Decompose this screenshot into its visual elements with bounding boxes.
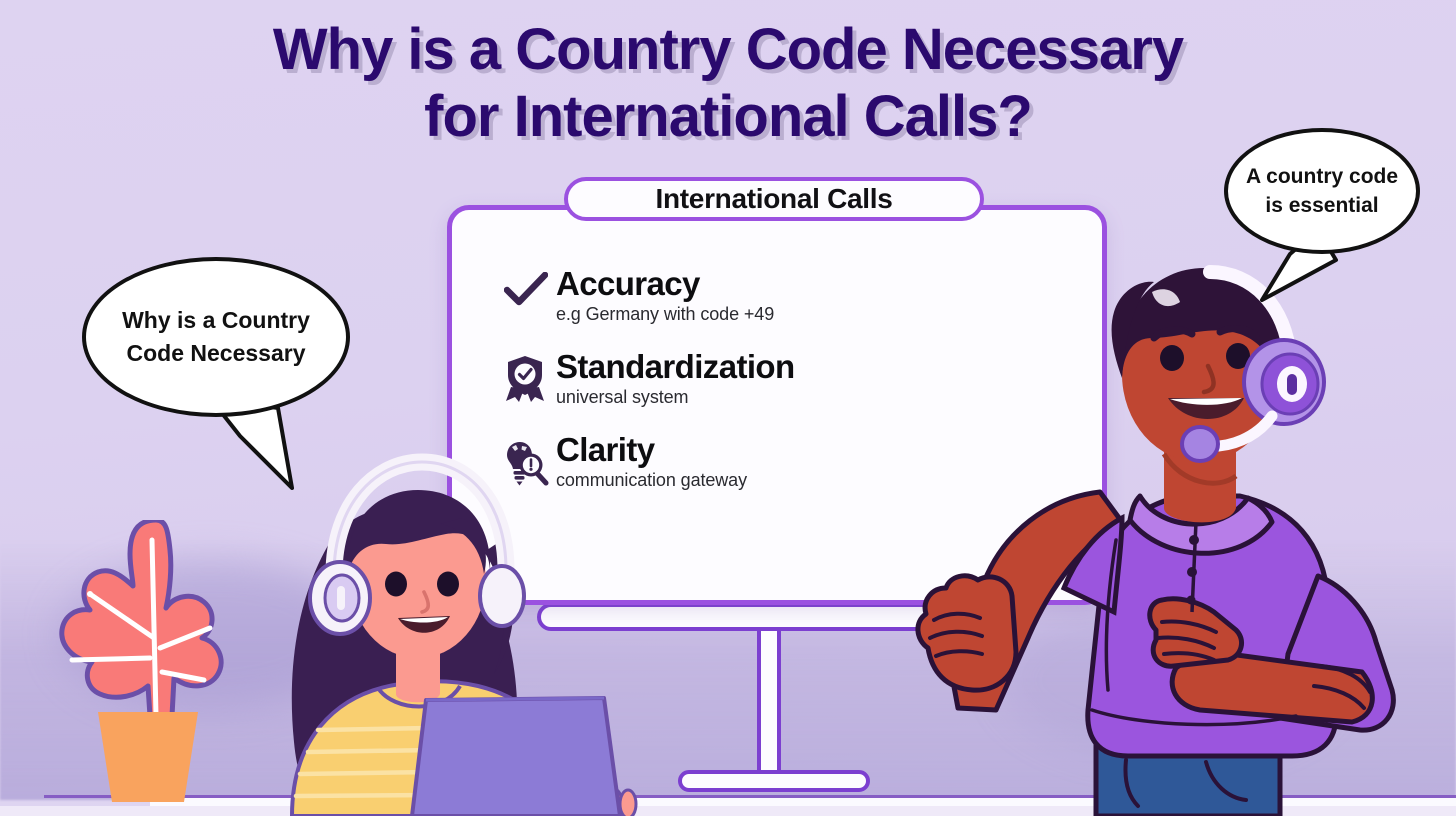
lightbulb-magnifier-icon — [504, 432, 556, 486]
check-icon — [504, 266, 556, 308]
whiteboard-stand-post — [757, 628, 781, 778]
list-item-heading: Clarity — [556, 432, 747, 469]
whiteboard-stand-foot — [678, 770, 870, 792]
speech-bubble-left: Why is a Country Code Necessary — [82, 257, 350, 417]
list-item: Standardization universal system — [504, 349, 1076, 408]
list-item-subtext: universal system — [556, 387, 795, 408]
background-blob — [60, 560, 360, 710]
list-item-subtext: communication gateway — [556, 470, 747, 491]
whiteboard-panel: International Calls Accuracy e.g Germany… — [447, 205, 1107, 605]
whiteboard: International Calls Accuracy e.g Germany… — [447, 205, 1107, 605]
background-blob — [1000, 600, 1340, 760]
shield-badge-icon — [504, 349, 556, 403]
list-item-heading: Accuracy — [556, 266, 774, 303]
whiteboard-ledge — [537, 603, 977, 631]
page-title: Why is a Country Code Necessary for Inte… — [0, 16, 1456, 151]
whiteboard-tab-label: International Calls — [564, 177, 984, 221]
list-item-text: Clarity communication gateway — [556, 432, 747, 491]
list-item-heading: Standardization — [556, 349, 795, 386]
list-item-text: Accuracy e.g Germany with code +49 — [556, 266, 774, 325]
speech-bubble-right: A country code is essential — [1224, 128, 1420, 254]
title-line-2: for International Calls? — [150, 83, 1306, 150]
title-line-1: Why is a Country Code Necessary — [273, 17, 1183, 82]
list-item-subtext: e.g Germany with code +49 — [556, 304, 774, 325]
list-item: Clarity communication gateway — [504, 432, 1076, 491]
whiteboard-list: Accuracy e.g Germany with code +49 — [504, 266, 1076, 515]
illustration-canvas: Why is a Country Code Necessary for Inte… — [0, 0, 1456, 816]
list-item-text: Standardization universal system — [556, 349, 795, 408]
list-item: Accuracy e.g Germany with code +49 — [504, 266, 1076, 325]
floor-edge — [0, 806, 1456, 816]
